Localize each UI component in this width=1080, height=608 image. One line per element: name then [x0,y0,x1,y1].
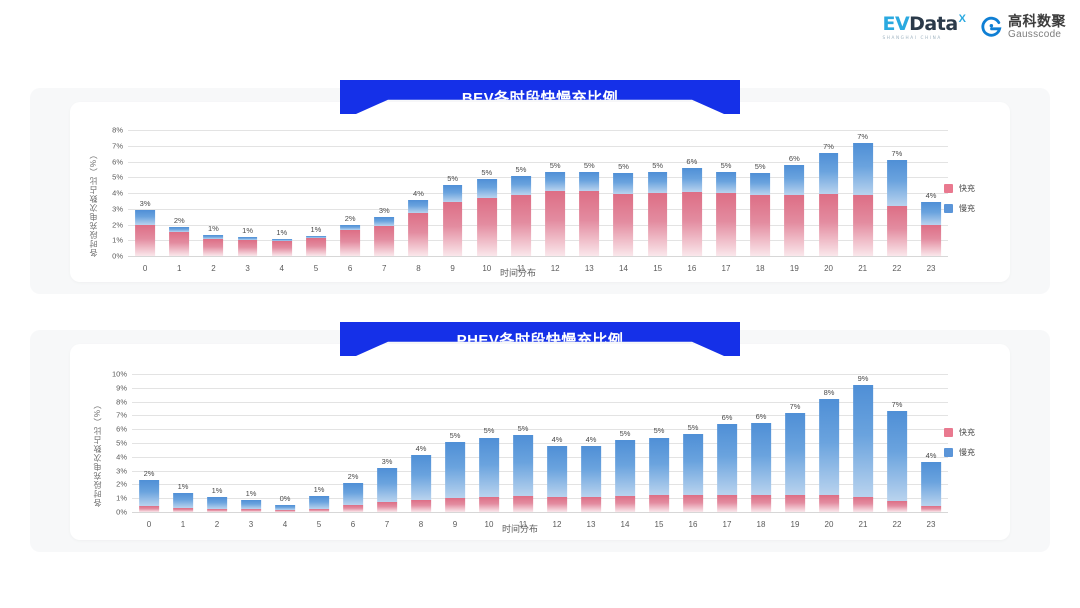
phev-bar-slot[interactable]: 4%23 [914,374,948,512]
bev-bar-value-label: 4% [926,191,937,200]
bev-bar-segment-fast[interactable] [648,193,668,256]
bev-bar-segment-slow[interactable] [614,173,634,193]
phev-stacked-bar[interactable] [411,455,431,512]
bev-bar-slot[interactable]: 5%9 [436,130,470,256]
phev-stacked-bar[interactable] [275,505,295,512]
bev-legend-swatch [944,204,953,213]
phev-bar-slot[interactable]: 5%15 [642,374,676,512]
bev-bar-value-label: 5% [516,165,527,174]
bev-bar-slot[interactable]: 5%10 [470,130,504,256]
phev-y-tick-label: 0% [116,508,127,517]
bev-bar-slot[interactable]: 5%12 [538,130,572,256]
phev-bar-slot[interactable]: 6%17 [710,374,744,512]
bev-bar-segment-slow[interactable] [409,200,429,213]
bev-bar-segment-fast[interactable] [169,232,189,256]
phev-bar-segment-slow[interactable] [581,446,601,497]
bev-bar-segment-slow[interactable] [477,179,497,198]
phev-bar-segment-slow[interactable] [241,500,261,510]
phev-stacked-bar[interactable] [309,496,329,512]
phev-plot-area: 0%1%2%3%4%5%6%7%8%9%10%2%01%11%21%30%41%… [106,374,948,512]
bev-y-tick-label: 6% [112,157,123,166]
bev-y-tick-label: 3% [112,204,123,213]
bev-y-tick-label: 5% [112,173,123,182]
phev-bar-group: 2%01%11%21%30%41%52%63%74%85%95%105%114%… [132,374,948,512]
bev-y-tick-label: 2% [112,220,123,229]
bev-stacked-bar[interactable] [511,176,531,256]
phev-bar-slot[interactable]: 4%13 [574,374,608,512]
phev-bar-slot[interactable]: 7%22 [880,374,914,512]
phev-bar-value-label: 2% [144,469,155,478]
bev-bar-value-label: 3% [140,199,151,208]
phev-stacked-bar[interactable] [377,468,397,512]
phev-gridline [132,512,948,513]
phev-bar-segment-fast[interactable] [309,509,329,512]
phev-bar-slot[interactable]: 5%11 [506,374,540,512]
bev-stacked-bar[interactable] [819,153,839,256]
phev-legend-swatch [944,448,953,457]
bev-bar-value-label: 5% [652,161,663,170]
phev-bar-segment-slow[interactable] [751,423,771,495]
bev-bar-segment-fast[interactable] [135,225,155,256]
phev-stacked-bar[interactable] [241,500,261,512]
bev-bar-slot[interactable]: 6%16 [675,130,709,256]
bev-bar-segment-fast[interactable] [750,195,770,256]
phev-bar-value-label: 5% [484,426,495,435]
bev-stacked-bar[interactable] [272,239,292,256]
phev-bar-segment-slow[interactable] [649,438,669,496]
phev-bar-segment-slow[interactable] [377,468,397,502]
phev-bar-segment-slow[interactable] [479,438,499,497]
gausscode-logo-cn-text: 高科数聚 [1008,14,1066,28]
phev-bar-segment-slow[interactable] [411,455,431,501]
phev-bar-segment-fast[interactable] [785,495,805,512]
phev-bar-segment-fast[interactable] [411,500,431,512]
bev-bar-slot[interactable]: 1%4 [265,130,299,256]
page-header: EV Data X SHANGHAI CHINA 高科数聚 Gausscode [0,0,1080,60]
phev-stacked-bar[interactable] [751,423,771,512]
bev-chart-legend: 快充慢充 [944,183,975,214]
phev-y-tick-label: 5% [116,439,127,448]
bev-bar-value-label: 1% [242,226,253,235]
phev-bar-segment-fast[interactable] [513,496,533,512]
phev-stacked-bar[interactable] [853,385,873,512]
bev-bar-segment-slow[interactable] [511,176,531,195]
phev-bar-value-label: 1% [212,486,223,495]
bev-stacked-bar[interactable] [682,168,702,256]
phev-legend-label: 慢充 [959,447,975,458]
bev-bar-segment-fast[interactable] [921,225,941,256]
phev-bar-segment-fast[interactable] [581,497,601,512]
bev-bar-segment-slow[interactable] [853,143,873,195]
bev-gridline [128,256,948,257]
bev-bar-segment-slow[interactable] [648,172,668,193]
bev-bar-segment-fast[interactable] [784,195,804,256]
bev-bar-slot[interactable]: 2%6 [333,130,367,256]
phev-bar-value-label: 7% [892,400,903,409]
phev-bar-segment-slow[interactable] [853,385,873,497]
phev-bar-value-label: 8% [824,388,835,397]
phev-x-axis-title: 时间分布 [92,522,948,535]
phev-legend-label: 快充 [959,427,975,438]
bev-stacked-bar[interactable] [340,225,360,256]
bev-y-tick-label: 0% [112,252,123,261]
phev-bar-segment-fast[interactable] [547,497,567,512]
phev-bar-segment-slow[interactable] [309,496,329,508]
bev-stacked-bar[interactable] [204,235,224,256]
bev-y-tick-label: 8% [112,126,123,135]
bev-bar-group: 3%02%11%21%31%41%52%63%74%85%95%105%115%… [128,130,948,256]
phev-stacked-bar[interactable] [139,480,159,512]
bev-stacked-bar[interactable] [443,185,463,256]
bev-bar-segment-slow[interactable] [579,172,599,192]
bev-bar-segment-fast[interactable] [511,195,531,256]
bev-stacked-bar[interactable] [409,200,429,256]
phev-stacked-bar[interactable] [921,462,941,512]
phev-bar-value-label: 4% [926,451,937,460]
phev-y-tick-label: 10% [112,370,127,379]
phev-bar-value-label: 5% [620,429,631,438]
phev-stacked-bar[interactable] [581,446,601,512]
phev-y-axis-title-text: 各时段充电次数占比（%） [92,400,103,507]
bev-bar-slot[interactable]: 5%11 [504,130,538,256]
bev-bar-value-label: 6% [789,154,800,163]
bev-bar-segment-fast[interactable] [887,206,907,256]
bev-bar-slot[interactable]: 5%18 [743,130,777,256]
phev-bar-value-label: 9% [858,374,869,383]
phev-y-axis-title: 各时段充电次数占比（%） [90,374,104,534]
phev-bar-segment-fast[interactable] [173,508,193,512]
bev-x-axis-title: 时间分布 [88,266,948,279]
phev-bar-slot[interactable]: 5%9 [438,374,472,512]
phev-bar-segment-slow[interactable] [207,497,227,509]
phev-bar-value-label: 2% [348,472,359,481]
phev-bar-value-label: 5% [654,426,665,435]
phev-bar-value-label: 4% [552,435,563,444]
phev-bar-segment-fast[interactable] [853,497,873,512]
phev-bar-segment-fast[interactable] [445,498,465,512]
phev-stacked-bar[interactable] [445,442,465,512]
evdata-logo-icon: EV Data X SHANGHAI CHINA [882,14,966,40]
bev-y-tick-label: 4% [112,189,123,198]
bev-bar-segment-fast[interactable] [819,194,839,256]
phev-bar-segment-fast[interactable] [377,502,397,512]
gausscode-mark-icon [980,16,1002,38]
bev-stacked-bar[interactable] [135,210,155,256]
bev-stacked-bar[interactable] [545,172,565,256]
phev-bar-slot[interactable]: 5%10 [472,374,506,512]
bev-bar-segment-fast[interactable] [409,213,429,256]
bev-legend-item[interactable]: 慢充 [944,203,975,214]
phev-bar-segment-slow[interactable] [615,440,635,497]
bev-bar-value-label: 2% [174,216,185,225]
phev-bar-value-label: 5% [688,423,699,432]
phev-bar-segment-fast[interactable] [275,510,295,512]
phev-bar-segment-slow[interactable] [139,480,159,506]
bev-bar-segment-fast[interactable] [340,230,360,256]
bev-bar-value-label: 5% [721,161,732,170]
phev-bar-segment-slow[interactable] [683,434,703,495]
bev-bar-slot[interactable]: 1%5 [299,130,333,256]
bev-bar-value-label: 7% [891,149,902,158]
bev-bar-value-label: 1% [311,225,322,234]
bev-stacked-bar[interactable] [579,172,599,256]
phev-bar-value-label: 0% [280,494,291,503]
bev-bar-slot[interactable]: 5%17 [709,130,743,256]
bev-bar-slot[interactable]: 7%22 [880,130,914,256]
phev-stacked-bar[interactable] [173,493,193,512]
phev-stacked-bar-chart: 各时段充电次数占比（%）0%1%2%3%4%5%6%7%8%9%10%2%01%… [92,374,948,534]
phev-bar-value-label: 4% [586,435,597,444]
bev-legend-swatch [944,184,953,193]
bev-bar-value-label: 5% [481,168,492,177]
bev-bar-value-label: 5% [447,174,458,183]
phev-bar-segment-fast[interactable] [717,495,737,512]
bev-bar-value-label: 5% [618,162,629,171]
phev-bar-slot[interactable]: 1%3 [234,374,268,512]
bev-stacked-bar[interactable] [477,179,497,256]
bev-y-tick-label: 7% [112,141,123,150]
bev-bar-value-label: 5% [755,162,766,171]
phev-stacked-bar[interactable] [785,413,805,512]
phev-bar-segment-slow[interactable] [173,493,193,508]
phev-bar-segment-slow[interactable] [445,442,465,499]
phev-bar-slot[interactable]: 7%19 [778,374,812,512]
bev-bar-segment-fast[interactable] [682,192,702,256]
phev-bar-value-label: 5% [450,431,461,440]
phev-bar-slot[interactable]: 2%0 [132,374,166,512]
phev-bar-segment-slow[interactable] [343,483,363,505]
phev-stacked-bar[interactable] [479,437,499,512]
phev-bar-segment-fast[interactable] [649,495,669,512]
bev-stacked-bar[interactable] [614,173,634,256]
phev-bar-segment-slow[interactable] [785,413,805,496]
bev-bar-value-label: 4% [413,189,424,198]
bev-bar-segment-fast[interactable] [204,239,224,256]
phev-bar-value-label: 1% [246,489,257,498]
bev-bar-segment-slow[interactable] [443,185,463,202]
phev-bar-slot[interactable]: 2%6 [336,374,370,512]
phev-stacked-bar[interactable] [513,435,533,512]
evdata-logo-ev-text: EV [882,14,909,34]
phev-bar-slot[interactable]: 6%18 [744,374,778,512]
phev-legend-swatch [944,428,953,437]
phev-stacked-bar[interactable] [615,440,635,512]
phev-bar-slot[interactable]: 1%5 [302,374,336,512]
logo-group: EV Data X SHANGHAI CHINA 高科数聚 Gausscode [882,14,1066,40]
bev-bar-segment-slow[interactable] [545,172,565,192]
bev-bar-slot[interactable]: 1%3 [231,130,265,256]
bev-bar-segment-slow[interactable] [750,173,770,195]
phev-bar-slot[interactable]: 0%4 [268,374,302,512]
phev-bar-segment-fast[interactable] [751,495,771,512]
phev-y-tick-label: 7% [116,411,127,420]
bev-stacked-bar[interactable] [716,172,736,256]
phev-stacked-bar[interactable] [547,446,567,512]
phev-legend-item[interactable]: 慢充 [944,447,975,458]
phev-bar-value-label: 6% [722,413,733,422]
bev-bar-segment-fast[interactable] [374,226,394,256]
bev-bar-segment-fast[interactable] [716,193,736,256]
bev-bar-segment-slow[interactable] [374,217,394,226]
evdata-logo-superscript: X [959,14,966,24]
phev-y-tick-label: 1% [116,494,127,503]
phev-bar-segment-fast[interactable] [207,509,227,512]
bev-bar-segment-slow[interactable] [716,172,736,193]
phev-stacked-bar[interactable] [887,411,907,512]
phev-bar-slot[interactable]: 1%2 [200,374,234,512]
bev-bar-value-label: 7% [823,142,834,151]
phev-bar-segment-slow[interactable] [887,411,907,501]
phev-bar-segment-fast[interactable] [479,497,499,512]
bev-legend-label: 慢充 [959,203,975,214]
phev-bar-value-label: 7% [790,402,801,411]
phev-y-tick-label: 9% [116,383,127,392]
phev-bar-value-label: 5% [518,424,529,433]
bev-bar-segment-fast[interactable] [614,194,634,256]
phev-bar-segment-slow[interactable] [819,399,839,496]
bev-bar-segment-fast[interactable] [579,191,599,256]
phev-y-tick-label: 2% [116,480,127,489]
phev-bar-segment-slow[interactable] [921,462,941,506]
bev-bar-value-label: 5% [550,161,561,170]
phev-y-tick-label: 6% [116,425,127,434]
bev-stacked-bar[interactable] [921,202,941,256]
bev-legend-item[interactable]: 快充 [944,183,975,194]
phev-stacked-bar[interactable] [717,424,737,512]
bev-stacked-bar[interactable] [306,236,326,256]
bev-bar-segment-slow[interactable] [887,160,907,206]
bev-bar-slot[interactable]: 5%15 [641,130,675,256]
phev-bar-segment-slow[interactable] [717,424,737,496]
bev-bar-slot[interactable]: 7%20 [811,130,845,256]
phev-bar-segment-slow[interactable] [513,435,533,496]
bev-stacked-bar[interactable] [648,172,668,256]
bev-bar-segment-fast[interactable] [443,202,463,256]
phev-bar-segment-fast[interactable] [887,501,907,512]
phev-bar-segment-fast[interactable] [241,509,261,512]
gausscode-logo-icon: 高科数聚 Gausscode [980,14,1066,40]
phev-bar-segment-slow[interactable] [547,446,567,497]
phev-bar-slot[interactable]: 9%21 [846,374,880,512]
bev-bar-value-label: 1% [276,228,287,237]
bev-bar-value-label: 7% [857,132,868,141]
bev-y-axis-title-text: 各时段充电次数占比（%） [88,150,99,257]
phev-bar-slot[interactable]: 1%1 [166,374,200,512]
bev-bar-value-label: 5% [584,161,595,170]
evdata-logo-subtitle: SHANGHAI CHINA [882,35,941,40]
bev-stacked-bar[interactable] [887,160,907,256]
bev-bar-segment-fast[interactable] [272,241,292,256]
bev-stacked-bar[interactable] [238,237,258,256]
bev-bar-slot[interactable]: 2%1 [162,130,196,256]
phev-y-tick-label: 4% [116,452,127,461]
bev-stacked-bar[interactable] [750,173,770,256]
phev-bar-segment-fast[interactable] [343,505,363,512]
bev-bar-slot[interactable]: 6%19 [777,130,811,256]
bev-plot-area: 0%1%2%3%4%5%6%7%8%3%02%11%21%31%41%52%63… [102,130,948,256]
bev-legend-label: 快充 [959,183,975,194]
bev-bar-segment-slow[interactable] [682,168,702,192]
phev-bar-slot[interactable]: 5%14 [608,374,642,512]
bev-bar-slot[interactable]: 3%7 [367,130,401,256]
bev-bar-segment-fast[interactable] [306,238,326,256]
phev-stacked-bar[interactable] [207,497,227,512]
bev-bar-segment-fast[interactable] [853,195,873,256]
bev-y-tick-label: 1% [112,236,123,245]
gausscode-logo-en-text: Gausscode [1008,30,1066,40]
phev-legend-item[interactable]: 快充 [944,427,975,438]
phev-bar-segment-fast[interactable] [921,506,941,512]
bev-bar-slot[interactable]: 1%2 [196,130,230,256]
bev-bar-slot[interactable]: 4%23 [914,130,948,256]
phev-bar-segment-fast[interactable] [615,496,635,512]
bev-bar-segment-fast[interactable] [545,191,565,256]
bev-bar-slot[interactable]: 7%21 [846,130,880,256]
bev-stacked-bar-chart: 各时段充电次数占比（%）0%1%2%3%4%5%6%7%8%3%02%11%21… [88,130,948,278]
bev-bar-value-label: 1% [208,224,219,233]
bev-stacked-bar[interactable] [374,217,394,256]
phev-y-axis: 0%1%2%3%4%5%6%7%8%9%10% [106,374,130,512]
phev-bar-segment-fast[interactable] [819,495,839,512]
phev-bar-value-label: 1% [178,482,189,491]
phev-bar-slot[interactable]: 4%8 [404,374,438,512]
phev-bar-segment-fast[interactable] [683,495,703,512]
phev-bar-slot[interactable]: 3%7 [370,374,404,512]
bev-bar-segment-slow[interactable] [784,165,804,195]
phev-y-tick-label: 3% [116,466,127,475]
phev-bar-value-label: 6% [756,412,767,421]
bev-bar-slot[interactable]: 4%8 [401,130,435,256]
bev-stacked-bar[interactable] [169,227,189,256]
bev-bar-segment-fast[interactable] [238,240,258,256]
phev-bar-value-label: 3% [382,457,393,466]
phev-chart-legend: 快充慢充 [944,427,975,458]
bev-y-axis: 0%1%2%3%4%5%6%7%8% [102,130,126,256]
phev-bar-slot[interactable]: 4%12 [540,374,574,512]
bev-bar-segment-slow[interactable] [135,210,155,224]
phev-stacked-bar[interactable] [649,437,669,512]
bev-bar-slot[interactable]: 5%14 [606,130,640,256]
phev-stacked-bar[interactable] [683,434,703,512]
bev-bar-segment-fast[interactable] [477,198,497,256]
bev-bar-slot[interactable]: 3%0 [128,130,162,256]
phev-bar-slot[interactable]: 5%16 [676,374,710,512]
phev-stacked-bar[interactable] [343,483,363,512]
bev-y-axis-title: 各时段充电次数占比（%） [86,130,100,278]
bev-bar-segment-slow[interactable] [921,202,941,224]
phev-bar-slot[interactable]: 8%20 [812,374,846,512]
bev-stacked-bar[interactable] [784,165,804,256]
phev-bar-segment-fast[interactable] [139,506,159,512]
bev-bar-segment-slow[interactable] [819,153,839,194]
bev-stacked-bar[interactable] [853,143,873,256]
phev-bar-value-label: 1% [314,485,325,494]
phev-y-tick-label: 8% [116,397,127,406]
phev-stacked-bar[interactable] [819,399,839,512]
bev-bar-value-label: 6% [686,157,697,166]
bev-bar-value-label: 2% [345,214,356,223]
bev-bar-value-label: 3% [379,206,390,215]
bev-bar-slot[interactable]: 5%13 [572,130,606,256]
phev-bar-value-label: 4% [416,444,427,453]
evdata-logo-data-text: Data [909,14,958,34]
